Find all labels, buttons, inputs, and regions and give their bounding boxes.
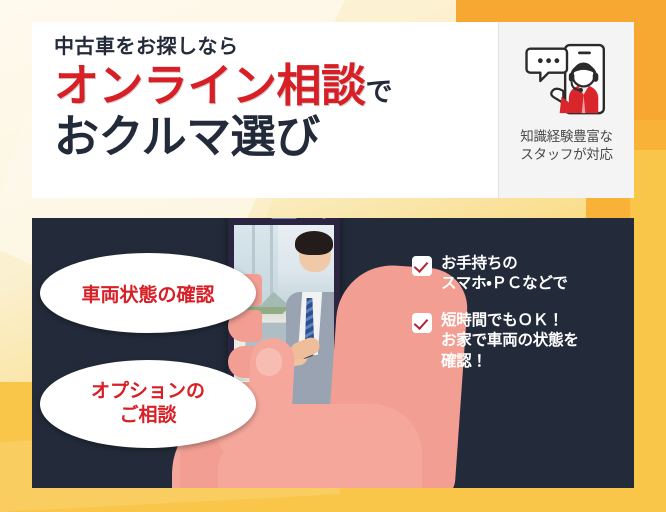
feature-bubble-options: オプションの ご相談 [40,360,256,448]
benefits-checklist: お手持ちの スマホ・ＰＣなどで 短時間でもＯＫ！ お家で車両の状態を 確認！ [412,254,627,388]
checkbox-checked-icon [412,313,432,333]
checklist-item-devices-line1: お手持ちの [441,255,518,272]
checklist-item-short-time-line1: 短時間でもＯＫ！ [441,312,563,329]
hand-thumb [356,385,438,488]
photo-car-emblem [250,365,267,378]
online-consultation-banner: 中古車をお探しなら オンライン相談で おクルマ選び [0,0,666,512]
eyebrow-text: 中古車をお探しなら [54,36,498,58]
feature-bubble-options-line1: オプションの [91,381,205,402]
phone-speaker [271,218,297,219]
headline-primary: オンライン相談で [54,62,498,111]
staff-panel: 知識経験豊富な スタッフが対応 [498,22,634,198]
feature-bubble-options-line2: ご相談 [119,405,176,426]
checklist-item-short-time-text: 短時間でもＯＫ！ お家で車両の状態を 確認！ [441,311,579,372]
headline-card: 中古車をお探しなら オンライン相談で おクルマ選び [32,22,634,198]
feature-bubble-options-label: オプションの ご相談 [91,380,205,428]
staff-caption: 知識経験豊富な スタッフが対応 [520,128,612,164]
features-panel: スーツ姿のスタッフが白い車を紹介している写真 車両状態の確認 オプションの ご相… [32,218,634,488]
checklist-item-short-time-line3: 確認！ [441,353,487,370]
phone-home-button [274,409,295,430]
checklist-item-short-time-line2: お家で車両の状態を [441,332,579,349]
staff-caption-line1: 知識経験豊富な [520,128,612,146]
hand-knuckle-right [218,446,262,488]
feature-bubble-vehicle-condition-label: 車両状態の確認 [81,280,214,307]
headline-suffix: で [366,77,393,107]
phone-screen [234,225,334,411]
staff-caption-line2: スタッフが対応 [520,146,612,164]
checkbox-checked-icon [412,256,432,276]
feature-bubble-vehicle-condition: 車両状態の確認 [40,253,256,333]
dealership-photo [234,225,334,411]
headline-highlight: オンライン相談 [54,60,366,111]
phone-camera-icon [322,218,326,219]
photo-salesperson-hair [295,231,333,255]
checklist-item-devices: お手持ちの スマホ・ＰＣなどで [412,254,627,295]
checklist-item-short-time: 短時間でもＯＫ！ お家で車両の状態を 確認！ [412,311,627,372]
operator-on-smartphone-icon [521,34,613,126]
checklist-item-devices-text: お手持ちの スマホ・ＰＣなどで [441,254,568,295]
checklist-item-devices-line2: スマホ・ＰＣなどで [441,275,568,292]
headline-secondary: おクルマ選び [54,113,498,162]
headline-zone: 中古車をお探しなら オンライン相談で おクルマ選び [32,22,498,198]
